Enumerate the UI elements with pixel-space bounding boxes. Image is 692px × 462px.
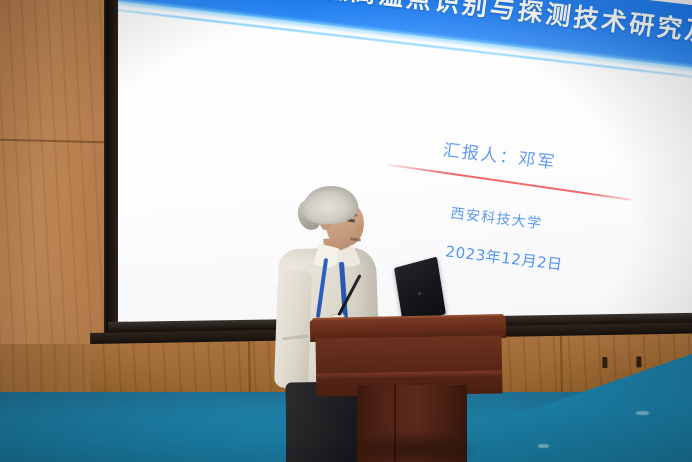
left-wood-pillar [0, 0, 104, 356]
speaker-arm [274, 269, 312, 388]
speaker-nose [356, 224, 363, 234]
floor-speck [636, 411, 649, 415]
floor-speck [538, 444, 549, 448]
slide-presenter: 汇报人：邓军 [442, 135, 559, 173]
wall-outlet-icon [636, 356, 641, 367]
podium-floor-shadow [350, 430, 480, 462]
slide-date: 2023年12月2日 [444, 240, 564, 274]
screen-left-bevel [106, 0, 118, 340]
slide-accent-line [388, 164, 631, 201]
presentation-photo: 采空区煤自燃高温点识别与探测技术研究及展望 汇报人：邓军 西安科技大学 2023… [0, 0, 692, 462]
slide-affiliation: 西安科技大学 [449, 203, 543, 233]
wall-outlet-icon [602, 357, 607, 368]
laptop-highlight [418, 292, 421, 295]
